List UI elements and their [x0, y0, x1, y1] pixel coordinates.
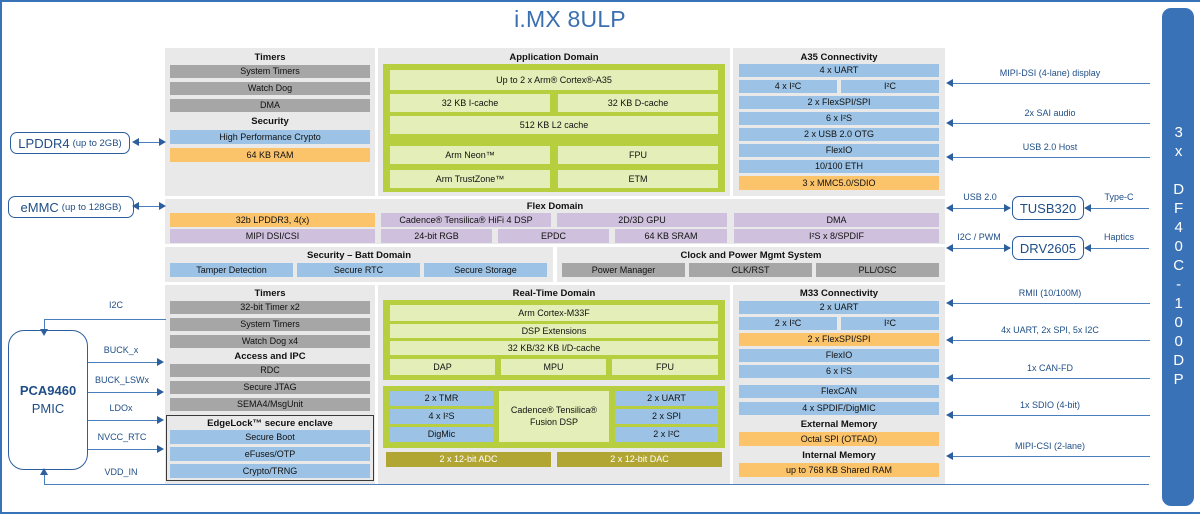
bar-shared-ram: up to 768 KB Shared RAM	[739, 463, 939, 477]
arrow-mipi-dsi	[946, 79, 953, 87]
bar-64kb-sram: 64 KB SRAM	[615, 229, 727, 243]
arrow-buck-x	[157, 358, 164, 366]
bar-power-manager: Power Manager	[562, 263, 685, 277]
bar-64kb-ram: 64 KB RAM	[170, 148, 370, 162]
label-rmii: RMII (10/100M)	[950, 288, 1150, 298]
bar-dac: 2 x 12-bit DAC	[557, 452, 722, 467]
clock-power-header: Clock and Power Mgmt System	[557, 250, 945, 262]
label-haptics: Haptics	[1090, 232, 1148, 242]
pmic-name: PCA9460	[20, 382, 76, 400]
bar-a35-i2s: 6 x I²S	[739, 112, 939, 125]
line-buck-x	[88, 362, 158, 363]
arrow-uart-spi-i2c	[946, 336, 953, 344]
flex-domain-header: Flex Domain	[165, 201, 945, 213]
arrow-can-fd	[946, 374, 953, 382]
bar-a35-i2c-4x: 4 x I²C	[739, 80, 837, 93]
arrow-usb20-left	[946, 204, 953, 212]
bar-m33-i2s: 6 x I²S	[739, 365, 939, 378]
label-usb20: USB 2.0	[952, 192, 1008, 202]
line-mipi-dsi	[952, 83, 1150, 84]
bar-arm-neon: Arm Neon™	[390, 146, 550, 164]
bar-hifi4-dsp: Cadence® Tensilica® HiFi 4 DSP	[381, 213, 551, 227]
line-buck-lswx	[88, 392, 158, 393]
bar-cortex-a35: Up to 2 x Arm® Cortex®-A35	[390, 70, 718, 90]
bar-mpu: MPU	[501, 359, 606, 375]
bar-id-cache: 32 KB/32 KB I/D-cache	[390, 341, 718, 355]
pmic-sub: PMIC	[32, 400, 65, 418]
external-memory-header: External Memory	[733, 419, 945, 431]
label-buck-lswx: BUCK_LSWx	[82, 375, 162, 385]
label-sai-audio: 2x SAI audio	[950, 108, 1150, 118]
bar-i2s-spdif: I²S x 8/SPDIF	[734, 229, 939, 243]
arrow-haptics-left	[1084, 244, 1091, 252]
bar-2x-i2c-rt: 2 x I²C	[615, 427, 718, 442]
label-uart-spi-i2c: 4x UART, 2x SPI, 5x I2C	[950, 325, 1150, 335]
timers-header-top: Timers	[165, 52, 375, 64]
bar-a35-flexspi: 2 x FlexSPI/SPI	[739, 96, 939, 109]
bar-mipi-dsi-csi: MIPI DSI/CSI	[170, 229, 375, 243]
bar-secure-storage: Secure Storage	[424, 263, 547, 277]
line-nvcc-rtc	[88, 449, 158, 450]
label-sdio: 1x SDIO (4-bit)	[950, 400, 1150, 410]
arrow-i2c-pwm-left	[946, 244, 953, 252]
page-title: i.MX 8ULP	[0, 6, 1140, 33]
line-haptics	[1090, 248, 1149, 249]
bar-a35-eth: 10/100 ETH	[739, 160, 939, 173]
bar-m33-i2c-2x: 2 x I²C	[739, 317, 837, 330]
bar-fusion-dsp: Cadence® Tensilica® Fusion DSP	[499, 391, 609, 442]
bar-sema4-msgunit: SEMA4/MsgUnit	[170, 398, 370, 411]
chip-pca9460-pmic[interactable]: PCA9460 PMIC	[8, 330, 88, 470]
label-ldox: LDOx	[86, 403, 156, 413]
bar-fpu-rt: FPU	[612, 359, 718, 375]
bar-dap: DAP	[390, 359, 495, 375]
bar-system-timers-2: System Timers	[170, 318, 370, 331]
internal-memory-header: Internal Memory	[733, 450, 945, 462]
bar-tamper-detection: Tamper Detection	[170, 263, 293, 277]
arrow-emmc-left	[132, 202, 139, 210]
bar-octal-spi: Octal SPI (OTFAD)	[739, 432, 939, 446]
realtime-domain-header: Real-Time Domain	[378, 288, 730, 300]
bar-crypto-trng: Crypto/TRNG	[170, 464, 370, 478]
line-vdd-in-h	[44, 484, 1149, 485]
bar-trustzone: Arm TrustZone™	[390, 170, 550, 188]
label-buck-x: BUCK_x	[86, 345, 156, 355]
bar-digmic: DigMic	[390, 427, 493, 442]
security-batt-header: Security – Batt Domain	[165, 250, 553, 262]
bar-epdc: EPDC	[498, 229, 609, 243]
bar-lpddr3: 32b LPDDR3, 4(x)	[170, 213, 375, 227]
label-mipi-dsi: MIPI-DSI (4-lane) display	[950, 68, 1150, 78]
line-sai-audio	[952, 123, 1150, 124]
arrow-sai-audio	[946, 119, 953, 127]
bar-adc: 2 x 12-bit ADC	[386, 452, 551, 467]
line-mipi-csi	[952, 456, 1150, 457]
bar-a35-flexio: FlexIO	[739, 144, 939, 157]
label-vdd-in: VDD_IN	[86, 467, 156, 477]
a35-connectivity-header: A35 Connectivity	[733, 52, 945, 64]
bar-system-timers: System Timers	[170, 65, 370, 78]
chip-emmc-detail: (up to 128GB)	[62, 202, 122, 213]
line-usb-host	[952, 157, 1150, 158]
arrow-lpddr4-right	[159, 138, 166, 146]
bar-pll-osc: PLL/OSC	[816, 263, 939, 277]
arrow-i2c-pwm-right	[1004, 244, 1011, 252]
line-usb20	[952, 208, 1010, 209]
application-domain-header: Application Domain	[378, 52, 730, 64]
bar-2x-spi-rt: 2 x SPI	[615, 409, 718, 424]
arrow-type-c-left	[1084, 204, 1091, 212]
bar-gpu: 2D/3D GPU	[557, 213, 727, 227]
bar-etm: ETM	[558, 170, 718, 188]
bar-m33-flexio: FlexIO	[739, 349, 939, 362]
chip-lpddr4[interactable]: LPDDR4 (up to 2GB)	[10, 132, 130, 154]
bar-clk-rst: CLK/RST	[689, 263, 812, 277]
timers-header-bottom: Timers	[165, 288, 375, 300]
bar-secure-jtag: Secure JTAG	[170, 381, 370, 394]
bar-2x-uart-rt: 2 x UART	[615, 391, 718, 406]
line-i2c-pwm	[952, 248, 1010, 249]
chip-tusb320[interactable]: TUSB320	[1012, 196, 1084, 220]
border-left	[0, 0, 2, 514]
chip-emmc[interactable]: eMMC (up to 128GB)	[8, 196, 134, 218]
arrow-i2c-down	[40, 329, 48, 336]
arrow-usb-host	[946, 153, 953, 161]
connector-bar-df40c: 3x DF40C-100DP	[1162, 8, 1194, 506]
border-top	[0, 0, 1200, 2]
line-uart-spi-i2c	[952, 340, 1150, 341]
label-type-c: Type-C	[1090, 192, 1148, 202]
bar-m33-flexspi: 2 x FlexSPI/SPI	[739, 333, 939, 346]
line-sdio	[952, 415, 1150, 416]
bar-m33-uart: 2 x UART	[739, 301, 939, 314]
bar-32bit-timer: 32-bit Timer x2	[170, 301, 370, 314]
arrow-lpddr4-left	[132, 138, 139, 146]
chip-emmc-name: eMMC	[21, 200, 59, 215]
bar-high-performance-crypto: High Performance Crypto	[170, 130, 370, 144]
bar-2x-tmr: 2 x TMR	[390, 391, 493, 406]
connector-bar-label: 3x DF40C-100DP	[1169, 124, 1187, 390]
arrow-ldox	[157, 416, 164, 424]
arrow-vdd-in-up	[40, 468, 48, 475]
line-can-fd	[952, 378, 1150, 379]
line-type-c	[1090, 208, 1149, 209]
chip-drv2605[interactable]: DRV2605	[1012, 236, 1084, 260]
label-i2c-pwm: I2C / PWM	[948, 232, 1010, 242]
bar-m33-i2c: I²C	[841, 317, 939, 330]
arrow-sdio	[946, 411, 953, 419]
bar-watch-dog-x4: Watch Dog x4	[170, 335, 370, 348]
bar-l2-cache: 512 KB L2 cache	[390, 116, 718, 134]
arrow-buck-lswx	[157, 388, 164, 396]
line-i2c-h	[44, 319, 166, 320]
edgelock-enclave-header: EdgeLock™ secure enclave	[166, 418, 374, 430]
bar-a35-i2c: I²C	[841, 80, 939, 93]
bar-dma-top: DMA	[170, 99, 370, 112]
label-can-fd: 1x CAN-FD	[950, 363, 1150, 373]
bar-efuses-otp: eFuses/OTP	[170, 447, 370, 461]
bar-d-cache: 32 KB D-cache	[558, 94, 718, 112]
bar-i-cache: 32 KB I-cache	[390, 94, 550, 112]
arrow-mipi-csi	[946, 452, 953, 460]
line-ldox	[88, 420, 158, 421]
line-vdd-in-v	[44, 475, 45, 485]
bar-a35-mmc-sdio: 3 x MMC5.0/SDIO	[739, 176, 939, 190]
bar-m33-spdif: 4 x SPDIF/DigMIC	[739, 402, 939, 415]
bar-cortex-m33f: Arm Cortex-M33F	[390, 305, 718, 321]
bar-24bit-rgb: 24-bit RGB	[381, 229, 492, 243]
bar-dsp-extensions: DSP Extensions	[390, 324, 718, 338]
arrow-emmc-right	[159, 202, 166, 210]
label-usb-host: USB 2.0 Host	[950, 142, 1150, 152]
bar-rdc: RDC	[170, 364, 370, 377]
arrow-nvcc-rtc	[157, 445, 164, 453]
bar-secure-boot: Secure Boot	[170, 430, 370, 444]
chip-lpddr4-detail: (up to 2GB)	[73, 138, 122, 149]
bar-fpu-app: FPU	[558, 146, 718, 164]
bar-a35-usb-otg: 2 x USB 2.0 OTG	[739, 128, 939, 141]
label-nvcc-rtc: NVCC_RTC	[82, 432, 162, 442]
m33-connectivity-header: M33 Connectivity	[733, 288, 945, 300]
line-rmii	[952, 303, 1150, 304]
security-header: Security	[165, 116, 375, 128]
bar-flex-dma: DMA	[734, 213, 939, 227]
arrow-usb20-right	[1004, 204, 1011, 212]
access-ipc-header: Access and IPC	[165, 351, 375, 363]
bar-a35-uart: 4 x UART	[739, 64, 939, 77]
bar-4x-i2s: 4 x I²S	[390, 409, 493, 424]
label-i2c: I2C	[86, 300, 146, 310]
bar-m33-flexcan: FlexCAN	[739, 385, 939, 398]
chip-lpddr4-name: LPDDR4	[18, 136, 69, 151]
arrow-rmii	[946, 299, 953, 307]
label-mipi-csi: MIPI-CSI (2-lane)	[950, 441, 1150, 451]
diagram-canvas: i.MX 8ULP Timers System Timers Watch Dog…	[0, 0, 1200, 514]
bar-watch-dog: Watch Dog	[170, 82, 370, 95]
bar-secure-rtc: Secure RTC	[297, 263, 420, 277]
